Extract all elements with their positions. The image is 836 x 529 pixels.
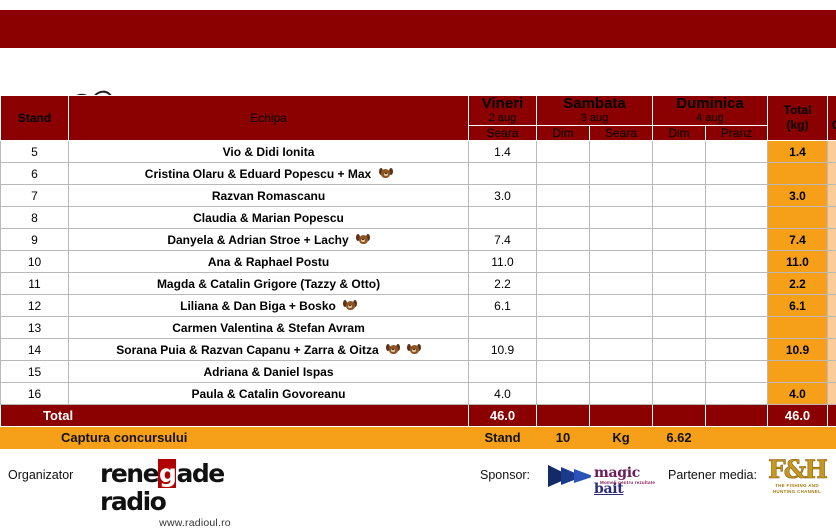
cell-stand: 10 — [1, 251, 69, 273]
cell-duminica-pranz — [706, 163, 768, 185]
table-total-row: Total 46.0 46.0 — [1, 405, 836, 427]
cell-duminica-dim — [653, 295, 706, 317]
cell-total — [768, 361, 828, 383]
organizer-label: Organizator — [8, 468, 73, 482]
table-body: 5Vio & Didi Ionita1.41.486Cristina Olaru… — [1, 141, 836, 405]
table-row: 11Magda & Catalin Grigore (Tazzy & Otto)… — [1, 273, 836, 295]
team-name: Cristina Olaru & Eduard Popescu + Max — [145, 167, 371, 181]
magic-bait-logo: magic bait Momeli pentru rezultate — [548, 462, 668, 490]
day-name: Sambata — [537, 96, 652, 112]
total-row-sambata-seara — [590, 405, 653, 427]
header-day-vineri: Vineri 2 aug — [469, 96, 537, 126]
cell-duminica-dim — [653, 141, 706, 163]
cell-sambata-seara — [590, 273, 653, 295]
day-name: Duminica — [653, 96, 767, 112]
cell-sambata-seara — [590, 141, 653, 163]
cell-echipa: Cristina Olaru & Eduard Popescu + Max — [69, 163, 469, 185]
cell-vineri-seara: 2.2 — [469, 273, 537, 295]
table-row: 12Liliana & Dan Biga + Bosko6.16.14 — [1, 295, 836, 317]
cell-vineri-seara — [469, 207, 537, 229]
cell-duminica-dim — [653, 273, 706, 295]
cell-stand: 8 — [1, 207, 69, 229]
top-banner-bar — [0, 10, 836, 48]
total-row-loc — [828, 405, 836, 427]
header-day-sambata: Sambata 3 aug — [537, 96, 653, 126]
table-captura-row: Captura concursului Stand 10 Kg 6.62 — [1, 427, 836, 449]
total-row-duminica-dim — [653, 405, 706, 427]
cell-vineri-seara: 11.0 — [469, 251, 537, 273]
team-name: Danyela & Adrian Stroe + Lachy — [167, 233, 348, 247]
cell-loc — [828, 207, 836, 229]
renegade-radio-logo: renegade radio www.radioul.ro — [100, 460, 290, 529]
cell-stand: 15 — [1, 361, 69, 383]
cell-duminica-dim — [653, 163, 706, 185]
team-name: Liliana & Dan Biga + Bosko — [180, 299, 336, 313]
cell-sambata-seara — [590, 317, 653, 339]
cell-stand: 11 — [1, 273, 69, 295]
cell-duminica-dim — [653, 383, 706, 405]
cell-echipa: Ana & Raphael Postu — [69, 251, 469, 273]
cell-vineri-seara — [469, 163, 537, 185]
dog-icon — [357, 234, 370, 245]
team-name: Paula & Catalin Govoreanu — [191, 387, 345, 401]
captura-spacer-2 — [768, 427, 828, 449]
cell-duminica-pranz — [706, 229, 768, 251]
cell-sambata-dim — [537, 163, 590, 185]
cell-echipa: Liliana & Dan Biga + Bosko — [69, 295, 469, 317]
cell-duminica-pranz — [706, 207, 768, 229]
standings-table: Stand Echipa Vineri 2 aug Sambata 3 aug … — [0, 95, 836, 449]
renegade-radio-wordmark: renegade radio — [100, 460, 290, 516]
team-name: Razvan Romascanu — [212, 189, 325, 203]
cell-stand: 12 — [1, 295, 69, 317]
cell-loc — [828, 163, 836, 185]
cell-sambata-seara — [590, 361, 653, 383]
table-row: 14Sorana Puia & Razvan Capanu + Zarra & … — [1, 339, 836, 361]
cell-duminica-pranz — [706, 251, 768, 273]
cell-duminica-pranz — [706, 317, 768, 339]
team-name: Magda & Catalin Grigore (Tazzy & Otto) — [157, 277, 380, 291]
renegade-g-highlight: g — [158, 459, 176, 488]
cell-loc: 8 — [828, 141, 836, 163]
total-row-sambata-dim — [537, 405, 590, 427]
team-name: Vio & Didi Ionita — [223, 145, 315, 159]
cell-vineri-seara: 6.1 — [469, 295, 537, 317]
cell-echipa: Carmen Valentina & Stefan Avram — [69, 317, 469, 339]
header-echipa: Echipa — [69, 96, 469, 141]
cell-duminica-dim — [653, 207, 706, 229]
cell-echipa: Claudia & Marian Popescu — [69, 207, 469, 229]
fh-channel-logo: F&H THE FISHING AND HUNTING CHANNEL — [760, 457, 834, 497]
swoosh-icon — [548, 465, 594, 487]
cell-duminica-pranz — [706, 361, 768, 383]
cell-stand: 9 — [1, 229, 69, 251]
cell-echipa: Danyela & Adrian Stroe + Lachy — [69, 229, 469, 251]
cell-sambata-seara — [590, 295, 653, 317]
cell-vineri-seara: 4.0 — [469, 383, 537, 405]
table-row: 8Claudia & Marian Popescu — [1, 207, 836, 229]
cell-total — [768, 207, 828, 229]
cell-loc: 5 — [828, 383, 836, 405]
cell-sambata-seara — [590, 229, 653, 251]
cell-duminica-dim — [653, 361, 706, 383]
cell-duminica-pranz — [706, 383, 768, 405]
dog-icon — [344, 300, 357, 311]
cell-total — [768, 163, 828, 185]
cell-total: 7.4 — [768, 229, 828, 251]
cell-sambata-seara — [590, 185, 653, 207]
header-day-duminica: Duminica 4 aug — [653, 96, 768, 126]
cell-sambata-seara — [590, 251, 653, 273]
total-row-label: Total — [1, 405, 469, 427]
day-date: 4 aug — [653, 112, 767, 125]
cell-sambata-dim — [537, 229, 590, 251]
cell-duminica-pranz — [706, 295, 768, 317]
cell-vineri-seara: 7.4 — [469, 229, 537, 251]
cell-sambata-dim — [537, 295, 590, 317]
team-name: Sorana Puia & Razvan Capanu + Zarra & Oi… — [116, 343, 378, 357]
cell-duminica-pranz — [706, 339, 768, 361]
header-loc-clasament: Loc in Clasament — [828, 96, 836, 141]
team-name: Claudia & Marian Popescu — [193, 211, 344, 225]
captura-label: Captura concursului — [1, 427, 469, 449]
header-session-sambata-seara: Seara — [590, 126, 653, 141]
cell-total: 2.2 — [768, 273, 828, 295]
cell-sambata-seara — [590, 383, 653, 405]
header-session-duminica-dim: Dim — [653, 126, 706, 141]
cell-total: 3.0 — [768, 185, 828, 207]
cell-sambata-dim — [537, 207, 590, 229]
header-session-duminica-pranz: Pranz — [706, 126, 768, 141]
cell-sambata-dim — [537, 383, 590, 405]
cell-vineri-seara: 10.9 — [469, 339, 537, 361]
cell-sambata-seara — [590, 163, 653, 185]
cell-duminica-dim — [653, 317, 706, 339]
table-row: 13Carmen Valentina & Stefan Avram — [1, 317, 836, 339]
cell-vineri-seara — [469, 317, 537, 339]
cell-stand: 16 — [1, 383, 69, 405]
total-row-total: 46.0 — [768, 405, 828, 427]
captura-spacer-1 — [706, 427, 768, 449]
cell-vineri-seara — [469, 361, 537, 383]
table-row: 10Ana & Raphael Postu11.011.01 — [1, 251, 836, 273]
magic-word: magic — [594, 465, 640, 481]
captura-kg-label: Kg — [590, 427, 653, 449]
cell-duminica-dim — [653, 339, 706, 361]
sponsor-label: Sponsor: — [480, 468, 530, 482]
header-session-sambata-dim: Dim — [537, 126, 590, 141]
cell-stand: 6 — [1, 163, 69, 185]
cell-vineri-seara: 1.4 — [469, 141, 537, 163]
partner-label: Partener media: — [668, 468, 757, 482]
cell-loc: 2 — [828, 339, 836, 361]
footer: Organizator renegade radio www.radioul.r… — [0, 460, 836, 518]
cell-stand: 5 — [1, 141, 69, 163]
cell-echipa: Sorana Puia & Razvan Capanu + Zarra & Oi… — [69, 339, 469, 361]
cell-echipa: Adriana & Daniel Ispas — [69, 361, 469, 383]
cell-sambata-dim — [537, 361, 590, 383]
cell-total: 10.9 — [768, 339, 828, 361]
header-total-unit: (kg) — [787, 118, 809, 132]
header-stand: Stand — [1, 96, 69, 141]
cell-duminica-dim — [653, 251, 706, 273]
table-header-row-1: Stand Echipa Vineri 2 aug Sambata 3 aug … — [1, 96, 836, 126]
dog-icon — [408, 344, 421, 355]
dog-icon — [379, 168, 392, 179]
fh-subtitle-line2: HUNTING CHANNEL — [760, 489, 834, 495]
total-row-duminica-pranz — [706, 405, 768, 427]
cell-stand: 7 — [1, 185, 69, 207]
cell-echipa: Magda & Catalin Grigore (Tazzy & Otto) — [69, 273, 469, 295]
cell-loc: 4 — [828, 295, 836, 317]
cell-stand: 14 — [1, 339, 69, 361]
cell-echipa: Vio & Didi Ionita — [69, 141, 469, 163]
header-total: Total (kg) — [768, 96, 828, 141]
cell-duminica-dim — [653, 229, 706, 251]
day-date: 2 aug — [469, 112, 536, 125]
team-name: Carmen Valentina & Stefan Avram — [172, 321, 365, 335]
cell-total — [768, 317, 828, 339]
captura-stand-value: 10 — [537, 427, 590, 449]
header-session-vineri-seara: Seara — [469, 126, 537, 141]
cell-sambata-dim — [537, 141, 590, 163]
table-row: 5Vio & Didi Ionita1.41.48 — [1, 141, 836, 163]
magic-bait-tagline: Momeli pentru rezultate — [600, 480, 655, 485]
table-row: 9Danyela & Adrian Stroe + Lachy7.47.43 — [1, 229, 836, 251]
total-row-vineri-seara: 46.0 — [469, 405, 537, 427]
cell-duminica-pranz — [706, 185, 768, 207]
cell-stand: 13 — [1, 317, 69, 339]
captura-stand-label: Stand — [469, 427, 537, 449]
cell-total: 6.1 — [768, 295, 828, 317]
cell-duminica-dim — [653, 185, 706, 207]
captura-spacer-3 — [828, 427, 836, 449]
cell-sambata-dim — [537, 317, 590, 339]
cell-loc — [828, 361, 836, 383]
organizer-url[interactable]: www.radioul.ro — [100, 517, 290, 529]
renegade-part1: rene — [100, 459, 158, 488]
cell-sambata-seara — [590, 207, 653, 229]
cell-loc: 3 — [828, 229, 836, 251]
cell-total: 4.0 — [768, 383, 828, 405]
team-name: Ana & Raphael Postu — [208, 255, 329, 269]
table-row: 6Cristina Olaru & Eduard Popescu + Max — [1, 163, 836, 185]
table-row: 15Adriana & Daniel Ispas — [1, 361, 836, 383]
cell-echipa: Paula & Catalin Govoreanu — [69, 383, 469, 405]
cell-duminica-pranz — [706, 273, 768, 295]
table-row: 7Razvan Romascanu3.03.06 — [1, 185, 836, 207]
cell-loc: 6 — [828, 185, 836, 207]
cell-duminica-pranz — [706, 141, 768, 163]
day-name: Vineri — [469, 96, 536, 112]
captura-kg-value: 6.62 — [653, 427, 706, 449]
cell-total: 11.0 — [768, 251, 828, 273]
team-name: Adriana & Daniel Ispas — [203, 365, 333, 379]
cell-loc: 7 — [828, 273, 836, 295]
cell-echipa: Razvan Romascanu — [69, 185, 469, 207]
header-loc-line2: Clasament — [832, 118, 836, 132]
header-total-label: Total — [784, 103, 812, 117]
table-row: 16Paula & Catalin Govoreanu4.04.05 — [1, 383, 836, 405]
cell-sambata-seara — [590, 339, 653, 361]
title-strip: Cupa ARMONIA CLASAMENT Balta Solacolu PE… — [0, 48, 836, 95]
cell-sambata-dim — [537, 185, 590, 207]
cell-loc — [828, 317, 836, 339]
cell-loc: 1 — [828, 251, 836, 273]
cell-vineri-seara: 3.0 — [469, 185, 537, 207]
fh-wordmark: F&H — [760, 457, 834, 483]
day-date: 3 aug — [537, 112, 652, 125]
cell-sambata-dim — [537, 273, 590, 295]
cell-total: 1.4 — [768, 141, 828, 163]
cell-sambata-dim — [537, 339, 590, 361]
dog-icon — [387, 344, 400, 355]
cell-sambata-dim — [537, 251, 590, 273]
